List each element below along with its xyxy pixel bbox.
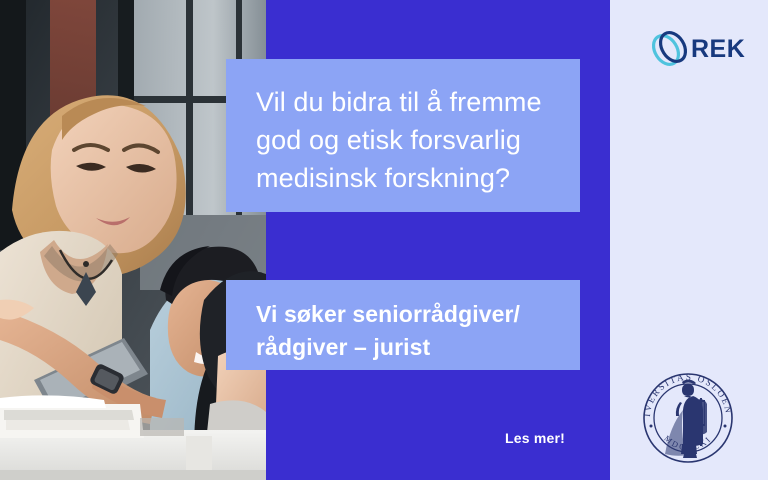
rek-wordmark: REK xyxy=(691,37,745,62)
two-interlocking-ovals-icon xyxy=(648,28,690,70)
university-seal-icon[interactable]: UNIVERSITAS OSLOENSIS MDCCCXI xyxy=(634,364,742,472)
subheadline-line-1: Vi søker seniorrådgiver/ xyxy=(256,298,550,331)
subheadline-card: Vi søker seniorrådgiver/ rådgiver – juri… xyxy=(226,280,580,370)
read-more-link[interactable]: Les mer! xyxy=(505,430,565,446)
headline-line-2: god og etisk forsvarlig xyxy=(256,121,550,159)
headline-line-3: medisinsk forskning? xyxy=(256,159,550,197)
rek-logo[interactable]: REK xyxy=(648,26,738,72)
headline-line-1: Vil du bidra til å fremme xyxy=(256,83,550,121)
headline-card: Vil du bidra til å fremme god og etisk f… xyxy=(226,59,580,212)
campaign-banner: Vil du bidra til å fremme god og etisk f… xyxy=(0,0,768,480)
subheadline-line-2: rådgiver – jurist xyxy=(256,331,550,364)
